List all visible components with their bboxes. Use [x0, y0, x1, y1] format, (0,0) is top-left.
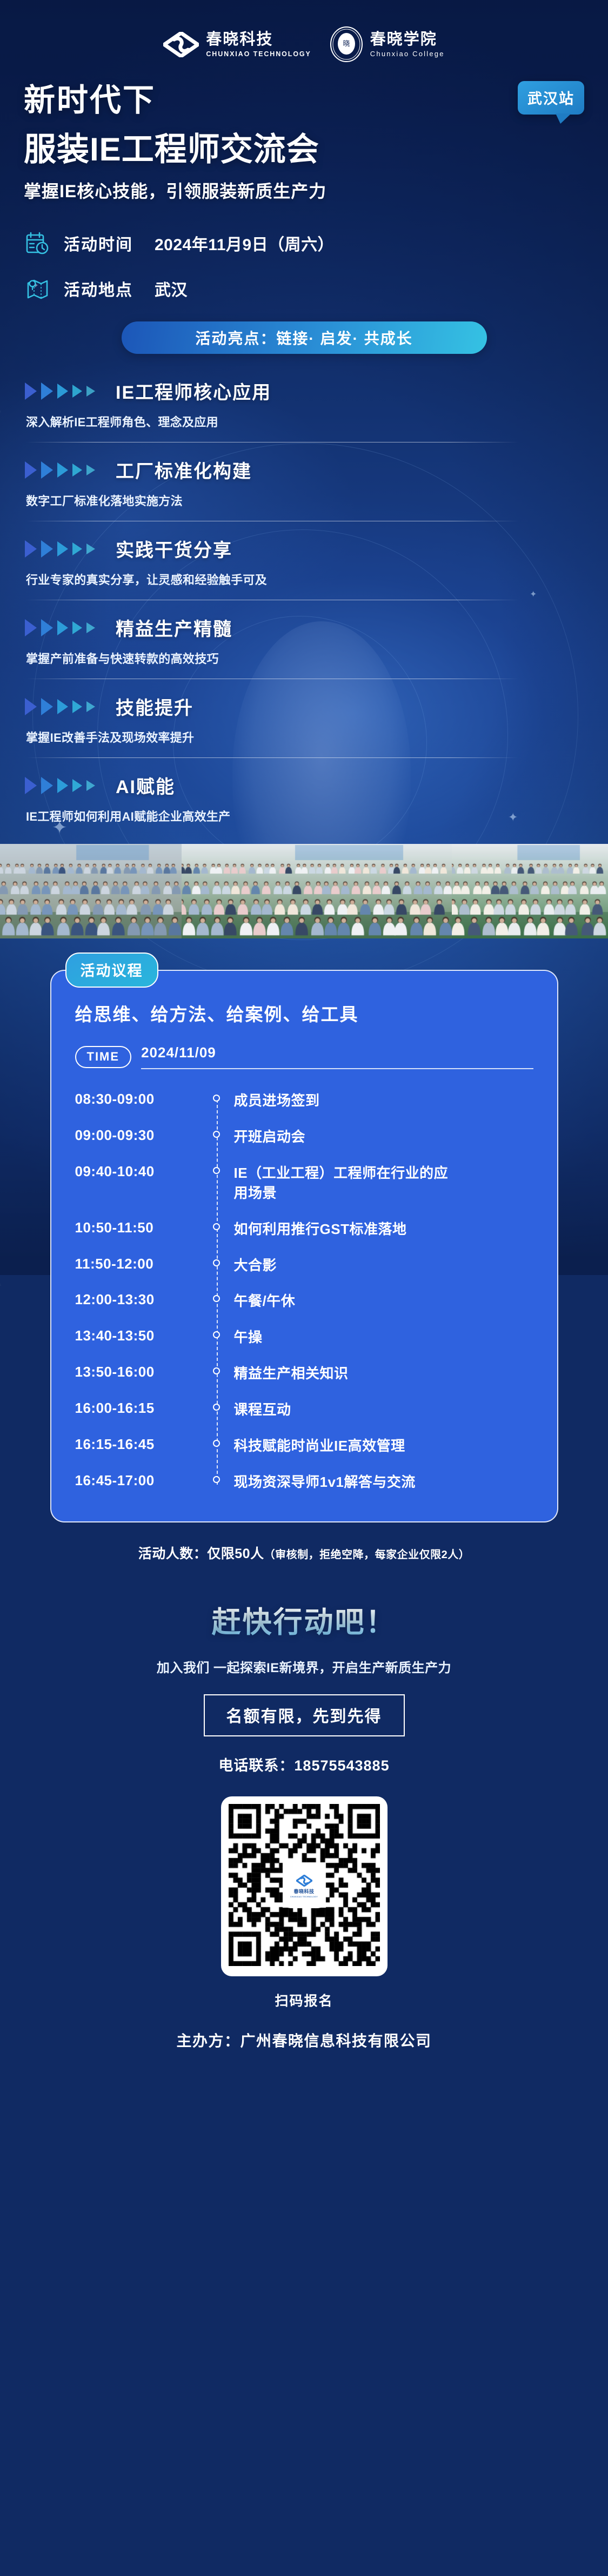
brand-tech-en: CHUNXIAO TECHNOLOGY [206, 50, 311, 58]
agenda-row-time: 10:50-11:50 [75, 1219, 199, 1236]
college-seal-icon: 晓 [330, 26, 363, 63]
agenda-row-time: 13:40-13:50 [75, 1327, 199, 1344]
cta-title: 赶快行动吧！ [0, 1598, 608, 1641]
agenda-section: 活动议程 给思维、给方法、给案例、给工具 TIME 2024/11/09 08:… [0, 938, 608, 1562]
highlight-separator [26, 679, 519, 679]
agenda-row-text: IE（工业工程）工程师在行业的应用场景 [234, 1163, 461, 1203]
agenda-row: 16:15-16:45 科技赋能时尚业IE高效管理 [75, 1436, 533, 1456]
map-pin-icon [25, 276, 50, 301]
highlight-desc: 深入解析IE工程师角色、理念及应用 [26, 413, 576, 430]
agenda-row-time: 16:00-16:15 [75, 1400, 199, 1417]
chunxiao-eye-logo-icon [296, 1875, 312, 1887]
event-info: 活动时间 2024年11月9日（周六） 活动地点 武汉 [0, 203, 608, 301]
timeline-dot-icon [199, 1400, 234, 1411]
chevrons-right-icon [24, 617, 104, 639]
highlight-item: 实践干货分享 行业专家的真实分享，让灵感和经验触手可及 [0, 535, 608, 600]
timeline-dot-icon [199, 1163, 234, 1174]
highlight-desc: 行业专家的真实分享，让灵感和经验触手可及 [26, 571, 576, 588]
info-value-location: 武汉 [155, 277, 188, 300]
timeline-dot-icon [199, 1219, 234, 1230]
agenda-row-text: 大合影 [234, 1256, 277, 1276]
chunxiao-eye-logo-icon [163, 32, 199, 57]
svg-text:晓: 晓 [343, 40, 350, 48]
agenda-row-time: 09:00-09:30 [75, 1127, 199, 1144]
timeline-dot-icon [199, 1127, 234, 1138]
highlight-separator [26, 442, 519, 442]
hero-line-2: 服装IE工程师交流会 [24, 123, 608, 170]
highlight-separator [26, 600, 519, 600]
agenda-row-text: 科技赋能时尚业IE高效管理 [234, 1436, 405, 1456]
hero-subtitle: 掌握IE核心技能，引领服装新质生产力 [24, 178, 608, 203]
agenda-timeline: 08:30-09:00 成员进场签到 09:00-09:30 开班启动会 09:… [75, 1091, 533, 1492]
chevrons-right-icon [24, 380, 104, 402]
agenda-row-text: 午餐/午休 [234, 1291, 296, 1311]
highlight-desc: 数字工厂标准化落地实施方法 [26, 492, 576, 509]
highlight-title: 工厂标准化构建 [116, 457, 252, 483]
chevrons-right-icon [24, 459, 104, 481]
agenda-row-text: 精益生产相关知识 [234, 1364, 349, 1384]
timeline-dot-icon [199, 1436, 234, 1447]
cta-limited-seats-box: 名额有限，先到先得 [204, 1694, 405, 1736]
qr-code[interactable]: 春晓科技 CHUNXIAO TECHNOLOGY [221, 1796, 387, 1976]
agenda-row-text: 课程互动 [234, 1400, 291, 1420]
time-pill-label: TIME [75, 1046, 132, 1068]
agenda-row-time: 11:50-12:00 [75, 1256, 199, 1272]
agenda-row: 13:50-16:00 精益生产相关知识 [75, 1364, 533, 1384]
brand-tech-cn: 春晓科技 [206, 31, 311, 48]
agenda-row: 10:50-11:50 如何利用推行GST标准落地 [75, 1219, 533, 1239]
timeline-dot-icon [199, 1472, 234, 1483]
agenda-headline: 给思维、给方法、给案例、给工具 [75, 1000, 359, 1026]
agenda-row-text: 午操 [234, 1327, 263, 1347]
agenda-row: 12:00-13:30 午餐/午休 [75, 1291, 533, 1311]
agenda-row-time: 09:40-10:40 [75, 1163, 199, 1180]
event-poster: ✦ ✦ ✦ ✦ ✦ 春晓科技 CHUNXIAO TECHNOLOGY 晓 春晓学… [0, 0, 608, 2576]
highlight-separator [26, 757, 519, 758]
agenda-row-text: 开班启动会 [234, 1127, 306, 1147]
agenda-card: 活动议程 给思维、给方法、给案例、给工具 TIME 2024/11/09 08:… [50, 970, 558, 1522]
highlight-desc: IE工程师如何利用AI赋能企业高效生产 [26, 807, 576, 824]
calendar-clock-icon [25, 231, 50, 256]
agenda-row: 16:45-17:00 现场资深导师1v1解答与交流 [75, 1472, 533, 1492]
highlight-title: IE工程师核心应用 [116, 378, 271, 404]
highlight-item: 精益生产精髓 掌握产前准备与快速转款的高效技巧 [0, 614, 608, 679]
timeline-dot-icon [199, 1291, 234, 1302]
hero-section: 新时代下 服装IE工程师交流会 掌握IE核心技能，引领服装新质生产力 武汉站 [0, 63, 608, 203]
highlight-title: 实践干货分享 [116, 535, 232, 562]
highlight-item: IE工程师核心应用 深入解析IE工程师角色、理念及应用 [0, 378, 608, 442]
city-badge: 武汉站 [518, 81, 584, 115]
timeline-dot-icon [199, 1364, 234, 1374]
capacity-detail: （审核制，拒绝空降，每家企业仅限2人） [264, 1549, 470, 1561]
brand-college-cn: 春晓学院 [370, 31, 445, 48]
chevrons-right-icon [24, 696, 104, 717]
highlights-list: IE工程师核心应用 深入解析IE工程师角色、理念及应用 工厂标准化构建 数字工厂… [0, 378, 608, 824]
capacity-note: 活动人数：仅限50人（审核制，拒绝空降，每家企业仅限2人） [0, 1543, 608, 1562]
agenda-row-text: 现场资深导师1v1解答与交流 [234, 1472, 416, 1492]
cta-subtitle: 加入我们 一起探索IE新境界，开启生产新质生产力 [0, 1657, 608, 1676]
qr-section: 春晓科技 CHUNXIAO TECHNOLOGY 扫码报名 [0, 1796, 608, 2010]
agenda-row: 16:00-16:15 课程互动 [75, 1400, 533, 1420]
agenda-row-time: 13:50-16:00 [75, 1364, 199, 1380]
logo-chunxiao-technology: 春晓科技 CHUNXIAO TECHNOLOGY [163, 31, 311, 57]
agenda-row-text: 如何利用推行GST标准落地 [234, 1219, 407, 1239]
agenda-row: 13:40-13:50 午操 [75, 1327, 533, 1347]
chevrons-right-icon [24, 538, 104, 560]
highlight-item: 工厂标准化构建 数字工厂标准化落地实施方法 [0, 457, 608, 521]
highlight-title: AI赋能 [116, 772, 175, 799]
agenda-row: 09:40-10:40 IE（工业工程）工程师在行业的应用场景 [75, 1163, 533, 1203]
photo-workshop-tables [452, 844, 608, 938]
highlight-item: 技能提升 掌握IE改善手法及现场效率提升 [0, 693, 608, 758]
agenda-row: 11:50-12:00 大合影 [75, 1256, 533, 1276]
timeline-dot-icon [199, 1091, 234, 1102]
agenda-row: 08:30-09:00 成员进场签到 [75, 1091, 533, 1111]
agenda-row-text: 成员进场签到 [234, 1091, 320, 1111]
highlight-title: 精益生产精髓 [116, 614, 232, 641]
info-value-time: 2024年11月9日（周六） [155, 231, 334, 255]
highlight-desc: 掌握产前准备与快速转款的高效技巧 [26, 649, 576, 667]
timeline-dot-icon [199, 1327, 234, 1338]
highlight-title: 技能提升 [116, 693, 193, 720]
highlights-banner: 活动亮点：链接· 启发· 共成长 [122, 321, 487, 354]
highlights-banner-label: 活动亮点：链接· 启发· 共成长 [195, 327, 412, 348]
info-row-location: 活动地点 武汉 [25, 276, 608, 301]
info-row-time: 活动时间 2024年11月9日（周六） [25, 231, 608, 256]
info-label-time: 活动时间 [64, 231, 133, 255]
cta-phone[interactable]: 电话联系：18575543885 [0, 1754, 608, 1775]
qr-center-logo: 春晓科技 CHUNXIAO TECHNOLOGY [285, 1866, 323, 1906]
agenda-row-time: 16:45-17:00 [75, 1472, 199, 1489]
brand-header: 春晓科技 CHUNXIAO TECHNOLOGY 晓 春晓学院 Chunxiao… [0, 0, 608, 63]
qr-logo-cn: 春晓科技 [293, 1888, 314, 1895]
highlight-separator [26, 521, 519, 521]
agenda-date: 2024/11/09 [141, 1044, 533, 1069]
photo-audience-seated [0, 844, 182, 938]
agenda-row-time: 12:00-13:30 [75, 1291, 199, 1308]
photo-strip [0, 844, 608, 938]
brand-college-en: Chunxiao College [370, 50, 445, 58]
highlight-item: AI赋能 IE工程师如何利用AI赋能企业高效生产 [0, 772, 608, 824]
organizer-line: 主办方：广州春晓信息科技有限公司 [0, 2029, 608, 2051]
qr-logo-en: CHUNXIAO TECHNOLOGY [290, 1896, 318, 1898]
highlight-desc: 掌握IE改善手法及现场效率提升 [26, 728, 576, 746]
agenda-row-time: 08:30-09:00 [75, 1091, 199, 1108]
chevrons-right-icon [24, 775, 104, 796]
agenda-row-time: 16:15-16:45 [75, 1436, 199, 1453]
photo-group-banner [182, 844, 452, 938]
agenda-row: 09:00-09:30 开班启动会 [75, 1127, 533, 1147]
agenda-date-row: TIME 2024/11/09 [75, 1044, 533, 1069]
agenda-tab-label: 活动议程 [65, 952, 158, 988]
capacity-main: 活动人数：仅限50人 [138, 1546, 264, 1561]
qr-caption: 扫码报名 [0, 1990, 608, 2010]
timeline-dot-icon [199, 1256, 234, 1266]
cta-section: 赶快行动吧！ 加入我们 一起探索IE新境界，开启生产新质生产力 名额有限，先到先… [0, 1598, 608, 1775]
logo-chunxiao-college: 晓 春晓学院 Chunxiao College [330, 26, 445, 63]
info-label-location: 活动地点 [64, 277, 133, 300]
